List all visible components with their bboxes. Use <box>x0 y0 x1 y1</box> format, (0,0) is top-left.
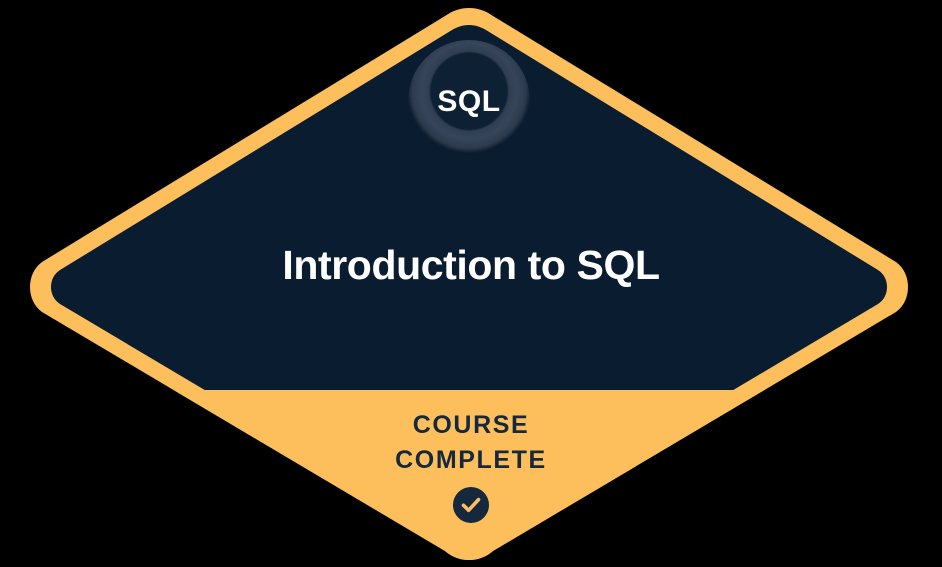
check-circle-icon <box>453 487 489 523</box>
status-line-primary: COURSE <box>0 408 942 443</box>
status-badge: COURSE COMPLETE <box>0 408 942 523</box>
sql-emblem-label: SQL <box>437 87 500 117</box>
page-title: Introduction to SQL <box>0 243 942 288</box>
status-line-secondary: COMPLETE <box>0 443 942 478</box>
course-completion-badge: SQL Introduction to SQL COURSE COMPLETE <box>0 0 942 567</box>
sql-emblem: SQL <box>408 40 530 162</box>
